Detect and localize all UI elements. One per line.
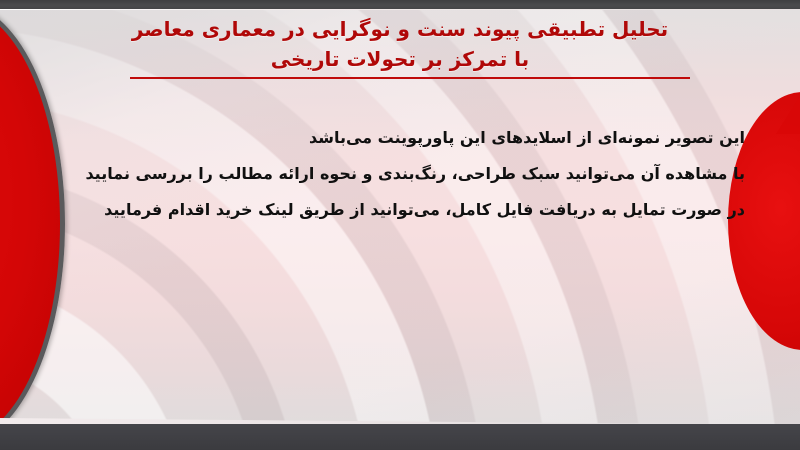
slide-title-line-1: تحلیل تطبیقی پیوند سنت و نوگرایی در معما… bbox=[60, 14, 740, 44]
body-line-3: در صورت تمایل به دریافت فایل کامل، می‌تو… bbox=[55, 192, 745, 228]
title-underline-rule bbox=[130, 77, 690, 79]
presentation-slide: تحلیل تطبیقی پیوند سنت و نوگرایی در معما… bbox=[0, 0, 800, 450]
slide-title: تحلیل تطبیقی پیوند سنت و نوگرایی در معما… bbox=[0, 14, 800, 74]
body-line-2: با مشاهده آن می‌توانید سبک طراحی، رنگ‌بن… bbox=[55, 156, 745, 192]
top-dark-bar bbox=[0, 0, 800, 9]
body-line-1: این تصویر نمونه‌ای از اسلایدهای این پاور… bbox=[55, 120, 745, 156]
slide-title-line-2: با تمرکز بر تحولات تاریخی bbox=[60, 44, 740, 74]
bottom-dark-bar bbox=[0, 424, 800, 450]
slide-body-text: این تصویر نمونه‌ای از اسلایدهای این پاور… bbox=[55, 120, 745, 228]
